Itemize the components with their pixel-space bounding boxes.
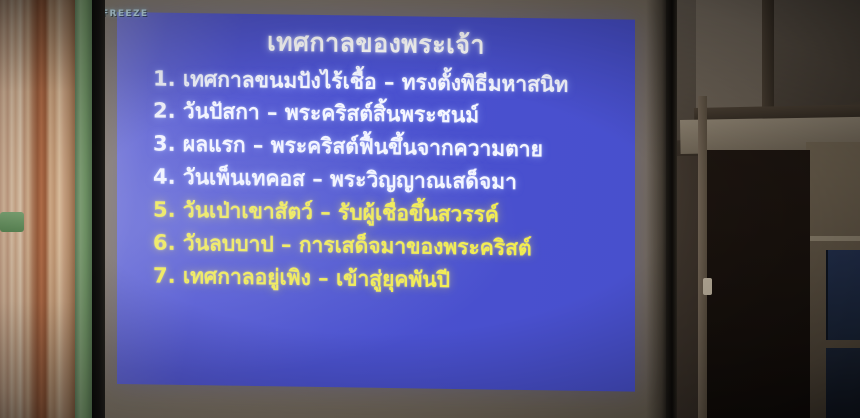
wall-trim	[806, 236, 860, 241]
bullet-2-number: 2.	[153, 99, 176, 123]
photo-scene: เทศกาลของพระเจ้า 1. เทศกาลขนมปังไร้เชื้อ…	[0, 0, 860, 418]
bullet-5-number: 5.	[153, 198, 176, 222]
slide-bullet-7: 7. เทศกาลอยู่เพิง – เข้าสู่ยุคพันปี	[153, 260, 625, 299]
bullet-5-text: วันเป่าเขาสัตว์ – รับผู้เชื่อขึ้นสวรรค์	[183, 198, 499, 227]
freeze-osd-label: FREEZE	[102, 9, 148, 19]
green-curtain-strip	[75, 0, 93, 418]
bullet-4-text: วันเพ็นเทคอส – พระวิญญาณเสด็จมา	[183, 165, 517, 194]
screen-right-shadow	[646, 0, 668, 418]
bullet-3-text: ผลแรก – พระคริสต์ฟื้นขึ้นจากความตาย	[183, 132, 543, 161]
bullet-7-text: เทศกาลอยู่เพิง – เข้าสู่ยุคพันปี	[183, 264, 450, 292]
screen-frame-left	[92, 0, 105, 418]
bullet-3-number: 3.	[153, 132, 176, 156]
door-latch	[703, 278, 712, 295]
curtain-shading	[0, 0, 78, 418]
projected-slide: เทศกาลของพระเจ้า 1. เทศกาลขนมปังไร้เชื้อ…	[117, 12, 635, 392]
bullet-6-number: 6.	[153, 231, 176, 255]
slide-bullet-list: 1. เทศกาลขนมปังไร้เชื้อ – ทรงตั้งพิธีมหา…	[127, 63, 625, 300]
dark-blue-object-lower	[826, 348, 860, 418]
bullet-6-text: วันลบบาป – การเสด็จมาของพระคริสต์	[183, 231, 532, 260]
open-doorway	[706, 150, 810, 418]
screen-frame-right	[666, 0, 677, 418]
bullet-4-number: 4.	[153, 165, 176, 189]
door-jamb	[698, 96, 707, 418]
curtain-tieback	[0, 212, 24, 232]
dark-blue-object	[826, 250, 860, 340]
bullet-7-number: 7.	[153, 263, 176, 287]
slide-title: เทศกาลของพระเจ้า	[127, 26, 625, 61]
bullet-1-number: 1.	[153, 66, 176, 90]
bullet-2-text: วันปัสกา – พระคริสต์สิ้นพระชนม์	[183, 99, 479, 127]
bullet-1-text: เทศกาลขนมปังไร้เชื้อ – ทรงตั้งพิธีมหาสนิ…	[183, 66, 568, 96]
vertical-beam	[762, 0, 774, 118]
